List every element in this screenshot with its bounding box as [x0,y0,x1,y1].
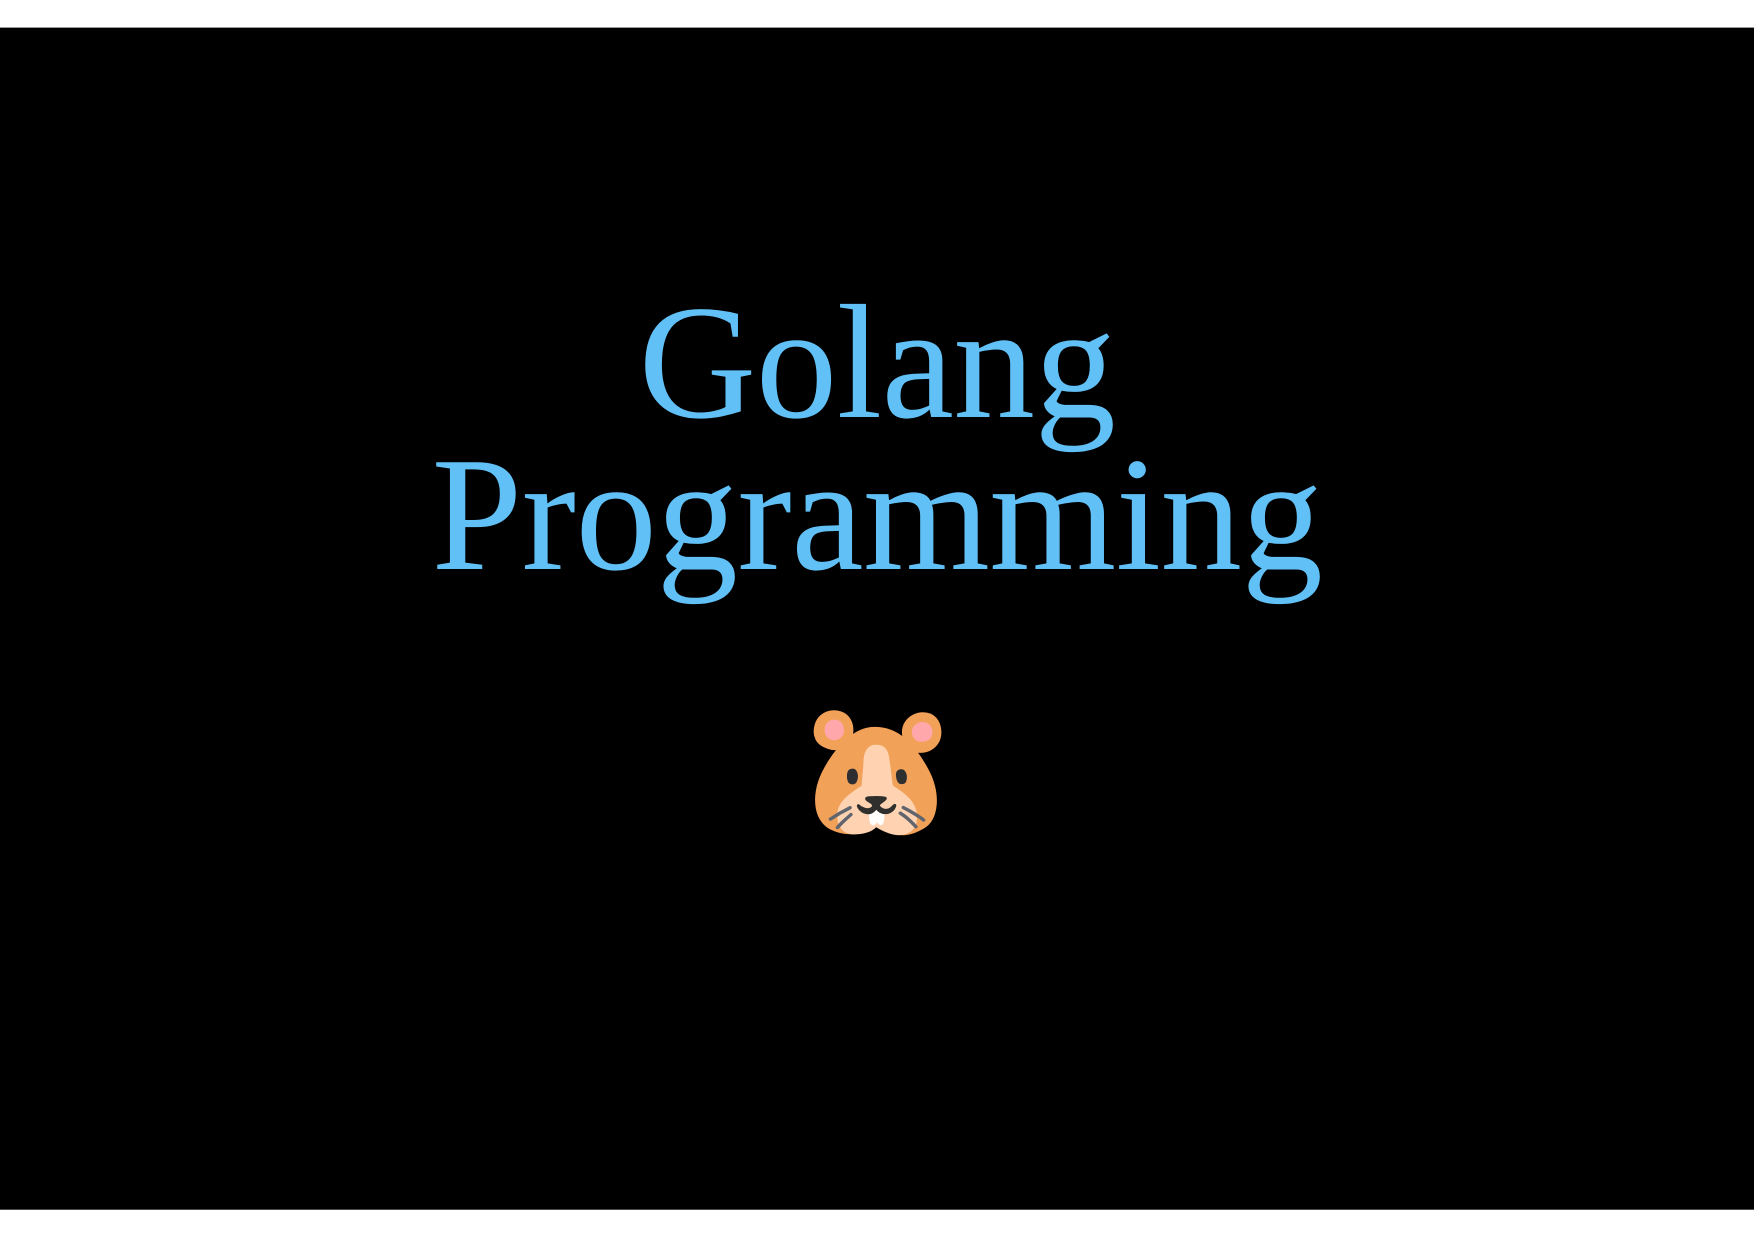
presentation-slide: GolangProgramming 🐹 [0,28,1754,1209]
slide-page: GolangProgramming 🐹 [0,0,1754,1240]
hamster-face-emoji: 🐹 [795,703,959,835]
title-line-2: Programming [432,425,1323,605]
page-title: GolangProgramming [327,288,1427,591]
bottom-divider-rule [0,1209,1754,1210]
